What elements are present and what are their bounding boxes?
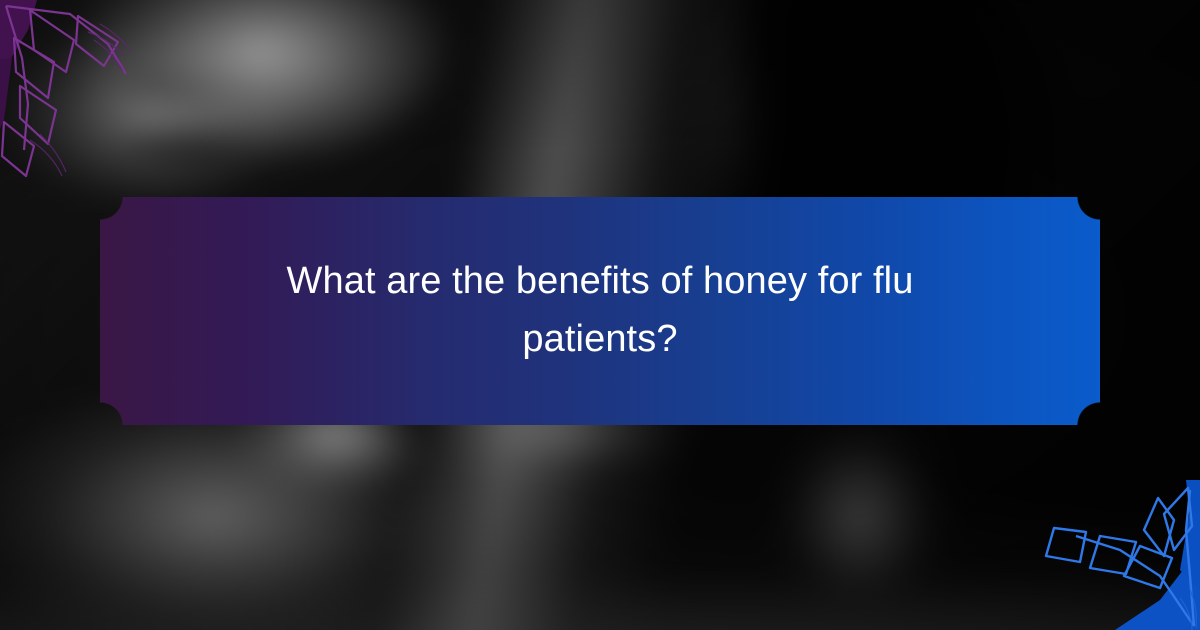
social-quote-card-image: What are the benefits of honey for flu p… (0, 0, 1200, 630)
quote-card: What are the benefits of honey for flu p… (100, 197, 1100, 425)
quote-text: What are the benefits of honey for flu p… (250, 253, 950, 369)
